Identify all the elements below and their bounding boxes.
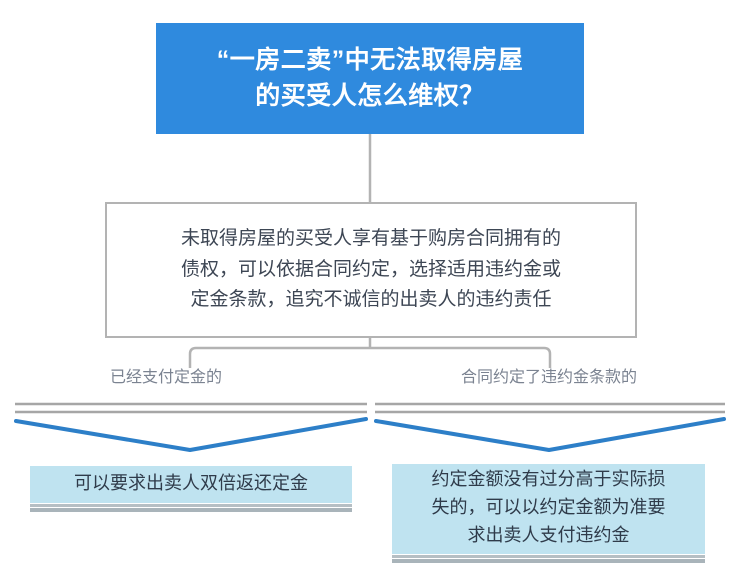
result-left-bar-bottom <box>30 504 352 507</box>
result-left-bar-top <box>30 508 352 512</box>
result-right-bar-bottom <box>392 555 705 558</box>
result-right-bar-top <box>392 559 705 563</box>
chevron-right <box>376 419 724 450</box>
branch-label-right: 合同约定了违约金条款的 <box>375 368 723 387</box>
title-banner: “一房二卖”中无法取得房屋 的买受人怎么维权？ <box>156 23 584 134</box>
flowchart-diagram: “一房二卖”中无法取得房屋 的买受人怎么维权？ 未取得房屋的买受人享有基于购房合… <box>0 0 740 587</box>
result-box-left: 可以要求出卖人双倍返还定金 <box>30 466 352 503</box>
main-statement-box: 未取得房屋的买受人享有基于购房合同拥有的 债权，可以依据合同约定，选择适用违约金… <box>105 202 637 338</box>
result-text-left: 可以要求出卖人双倍返还定金 <box>74 470 308 498</box>
chevron-left <box>16 419 366 450</box>
connector-branch-split <box>190 348 550 368</box>
main-statement-text: 未取得房屋的买受人享有基于购房合同拥有的 债权，可以依据合同约定，选择适用违约金… <box>181 224 561 316</box>
title-text: “一房二卖”中无法取得房屋 的买受人怎么维权？ <box>217 43 524 114</box>
result-box-right: 约定金额没有过分高于实际损 失的，可以以约定金额为准要 求出卖人支付违约金 <box>392 464 705 554</box>
branch-label-left: 已经支付定金的 <box>110 368 222 387</box>
result-text-right: 约定金额没有过分高于实际损 失的，可以以约定金额为准要 求出卖人支付违约金 <box>432 466 666 550</box>
